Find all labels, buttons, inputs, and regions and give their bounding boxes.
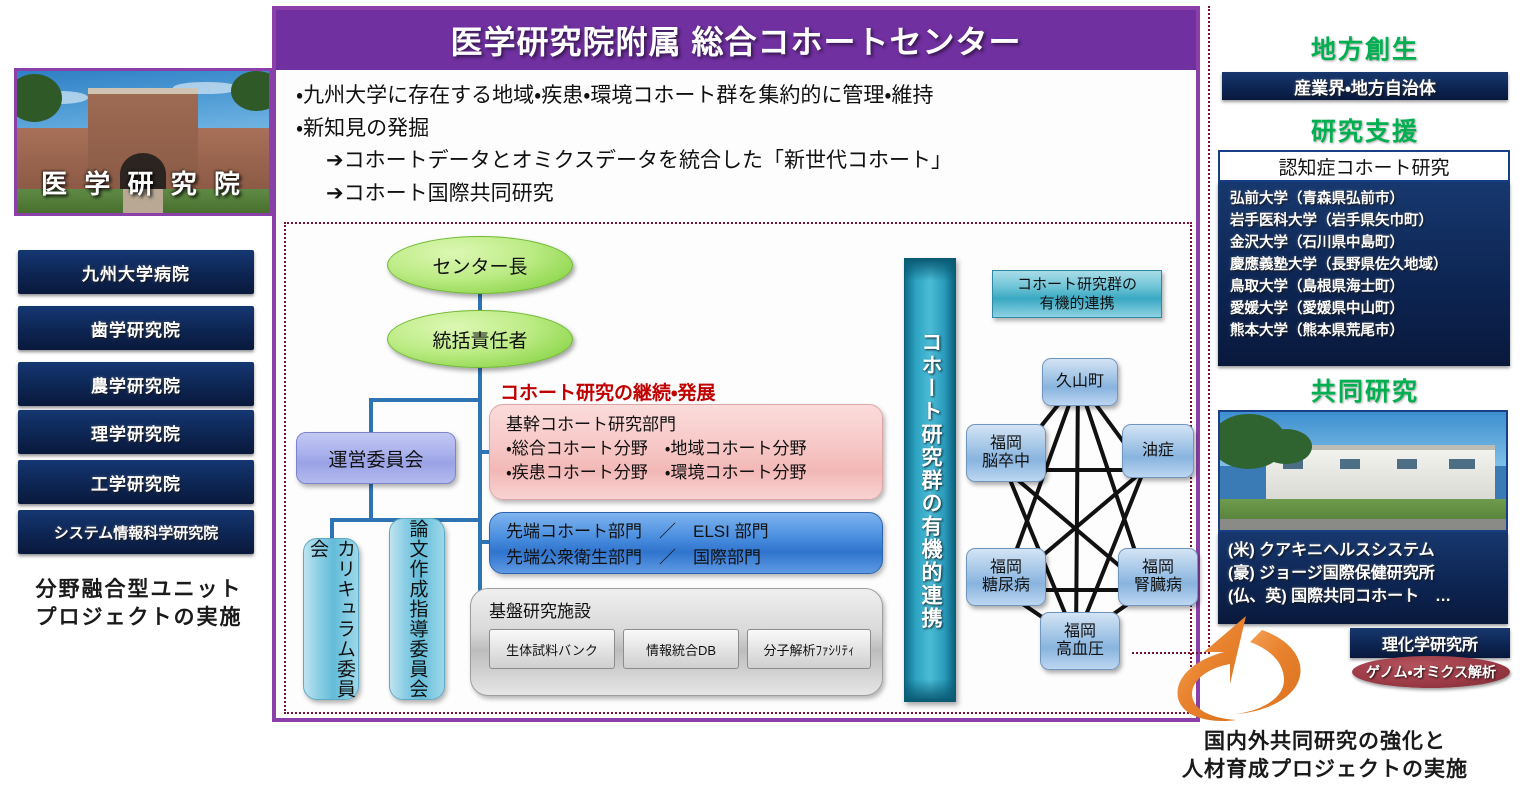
dept-item-1[interactable]: 歯学研究院: [18, 306, 254, 350]
bullet-3: ➔コホート国際共同研究: [296, 178, 1176, 211]
dept-item-5[interactable]: システム情報科学研究院: [18, 510, 254, 554]
genome-omics-badge: ゲノム・オミクス解析: [1352, 656, 1510, 688]
node-center-head[interactable]: センター長: [387, 236, 573, 294]
node-fukuoka-kidney[interactable]: 福岡 腎臓病: [1118, 548, 1198, 606]
cohort-continuation-text: コホート研究の継続・発展: [500, 383, 715, 404]
base-research-facility-box: 基盤研究施設 生体試料バンク 情報統合DB 分子解析ﾌｧｼﾘﾃｨ: [470, 588, 883, 696]
dept-item-4[interactable]: 工学研究院: [18, 460, 254, 504]
facility-title: 基盤研究施設: [489, 597, 591, 622]
dept-label: 歯学研究院: [91, 316, 181, 341]
unit-caption-line2: プロジェクトの実施: [8, 604, 270, 632]
heading-text: 地方創生: [1311, 36, 1419, 64]
node-label: 久山町: [1056, 373, 1104, 391]
node-label: 論文作成指導委員会: [404, 519, 431, 699]
node-label-line2: 糖尿病: [982, 577, 1030, 595]
node-label: 運営委員会: [328, 445, 423, 472]
node-label-line1: 福岡: [982, 559, 1030, 577]
bottom-caption-line1: 国内外共同研究の強化と: [1128, 728, 1522, 756]
facility-chip-biobank[interactable]: 生体試料バンク: [489, 629, 615, 669]
node-fukuoka-stroke[interactable]: 福岡 脳卒中: [966, 424, 1046, 482]
network-heading-box: コホート研究群の 有機的連携: [992, 270, 1162, 318]
university-item: 慶應義塾大学（長野県佐久地域）: [1230, 254, 1510, 276]
dept-item-3[interactable]: 理学研究院: [18, 410, 254, 454]
core-division-title: 基幹コホート研究部門: [506, 413, 866, 437]
university-item: 弘前大学（青森県弘前市）: [1230, 188, 1510, 210]
research-support-heading: 研究支援: [1222, 112, 1508, 148]
network-heading-line2: 有機的連携: [1017, 294, 1137, 314]
university-item: 岩手医科大学（岩手県矢巾町）: [1230, 210, 1510, 232]
collaborator-item: (豪) ジョージ国際保健研究所: [1228, 562, 1508, 585]
dept-label: 理学研究院: [91, 420, 181, 445]
right-dotted-divider: [1208, 6, 1210, 654]
advanced-divisions-box[interactable]: 先端コホート部門 ／ ELSI 部門 先端公衆衛生部門 ／ 国際部門: [489, 512, 883, 574]
title-text: 認知症コホート研究: [1278, 153, 1449, 180]
dementia-cohort-university-list: 弘前大学（青森県弘前市） 岩手医科大学（岩手県矢巾町） 金沢大学（石川県中島町）…: [1218, 182, 1510, 366]
joint-research-heading: 共同研究: [1222, 372, 1508, 408]
node-label: 統括責任者: [432, 326, 527, 353]
kuakini-facility-photo: [1218, 410, 1508, 532]
node-label-line1: 福岡: [1134, 559, 1182, 577]
bottom-caption: 国内外共同研究の強化と 人材育成プロジェクトの実施: [1128, 728, 1522, 785]
heading-text: 共同研究: [1311, 378, 1419, 406]
dept-item-0[interactable]: 九州大学病院: [18, 250, 254, 294]
riken-bar[interactable]: 理化学研究所: [1350, 628, 1510, 658]
page-title: 医学研究院附属 総合コホートセンター: [276, 10, 1196, 70]
facility-chip-molecular[interactable]: 分子解析ﾌｧｼﾘﾃｨ: [747, 629, 871, 669]
dementia-cohort-title: 認知症コホート研究: [1218, 150, 1510, 182]
photo-window: [1340, 459, 1360, 468]
node-label-line1: 福岡: [982, 435, 1030, 453]
node-hisayama[interactable]: 久山町: [1042, 358, 1118, 406]
unit-caption-line1: 分野融合型ユニット: [8, 576, 270, 604]
university-item: 熊本大学（熊本県荒尾市）: [1230, 320, 1510, 342]
cohort-continuation-label: コホート研究の継続・発展: [500, 378, 800, 405]
heading-text: 研究支援: [1311, 118, 1419, 146]
photo-tree: [231, 71, 272, 111]
connector-steering-down: [369, 484, 373, 520]
photo-window: [1449, 459, 1475, 468]
node-general-manager[interactable]: 統括責任者: [387, 310, 573, 368]
page-title-text: 医学研究院附属 総合コホートセンター: [451, 17, 1022, 63]
node-label-line2: 腎臓病: [1134, 577, 1182, 595]
node-label-line2: 脳卒中: [982, 453, 1030, 471]
medical-school-photo: 医 学 研 究 院: [14, 68, 272, 216]
dept-label: システム情報科学研究院: [54, 522, 219, 543]
node-label: 油症: [1142, 442, 1174, 460]
node-label-line1: 福岡: [1056, 623, 1104, 641]
badge-label: ゲノム・オミクス解析: [1366, 662, 1496, 682]
photo-tree: [1260, 429, 1311, 464]
dept-item-2[interactable]: 農学研究院: [18, 362, 254, 406]
chip-label: 生体試料バンク: [506, 640, 598, 659]
facility-chip-database[interactable]: 情報統合DB: [623, 629, 739, 669]
collaborator-item: (米) クアキニヘルスシステム: [1228, 539, 1508, 562]
bullet-2: ➔コホートデータとオミクスデータを統合した「新世代コホート」: [296, 145, 1176, 178]
chip-label: 分子解析ﾌｧｼﾘﾃｨ: [763, 640, 854, 659]
bar-label: 産業界・地方自治体: [1294, 74, 1436, 99]
dept-label: 工学研究院: [91, 470, 181, 495]
dept-label: 九州大学病院: [82, 260, 190, 285]
connector-to-steering: [369, 398, 482, 402]
bullet-0: ・九州大学に存在する地域・疾患・環境コホート群を集約的に管理・維持: [296, 80, 1176, 113]
dept-label: 農学研究院: [91, 372, 181, 397]
core-cohort-division-box[interactable]: 基幹コホート研究部門 ・総合コホート分野 ・地域コホート分野 ・疾患コホート分野…: [489, 404, 883, 500]
node-paper-committee[interactable]: 論文作成指導委員会: [389, 518, 445, 700]
photo-caption: 医 学 研 究 院: [17, 164, 269, 201]
network-heading-line1: コホート研究群の: [1017, 275, 1137, 295]
regional-revitalization-heading: 地方創生: [1222, 30, 1508, 66]
university-item: 金沢大学（石川県中島町）: [1230, 232, 1510, 254]
core-division-line-1: ・疾患コホート分野 ・環境コホート分野: [506, 461, 866, 485]
photo-road: [1220, 519, 1506, 530]
photo-window: [1397, 459, 1417, 468]
node-yusho[interactable]: 油症: [1122, 424, 1194, 478]
cohort-linkage-vertical-bar: コホート研究群の有機的連携: [904, 258, 956, 702]
bottom-caption-line2: 人材育成プロジェクトの実施: [1128, 756, 1522, 784]
bar-label: 理化学研究所: [1382, 631, 1478, 655]
core-division-line-0: ・総合コホート分野 ・地域コホート分野: [506, 437, 866, 461]
node-label: センター長: [432, 252, 527, 279]
node-label-line2: 高血圧: [1056, 641, 1104, 659]
center-bullet-list: ・九州大学に存在する地域・疾患・環境コホート群を集約的に管理・維持 ・新知見の発…: [296, 80, 1176, 210]
advanced-division-line-0: 先端コホート部門 ／ ELSI 部門: [506, 519, 866, 545]
bullet-1: ・新知見の発掘: [296, 113, 1176, 146]
node-fukuoka-hypertension[interactable]: 福岡 高血圧: [1040, 612, 1120, 670]
node-fukuoka-diabetes[interactable]: 福岡 糖尿病: [966, 548, 1046, 606]
university-item: 愛媛大学（愛媛県中山町）: [1230, 298, 1510, 320]
connector-steering-drop: [369, 398, 373, 434]
industry-government-bar[interactable]: 産業界・地方自治体: [1222, 72, 1508, 100]
university-item: 鳥取大学（島根県海士町）: [1230, 276, 1510, 298]
chip-label: 情報統合DB: [646, 640, 716, 659]
unit-project-caption: 分野融合型ユニット プロジェクトの実施: [8, 576, 270, 633]
vertical-bar-label: コホート研究群の有機的連携: [915, 331, 945, 630]
advanced-division-line-1: 先端公衆衛生部門 ／ 国際部門: [506, 545, 866, 571]
